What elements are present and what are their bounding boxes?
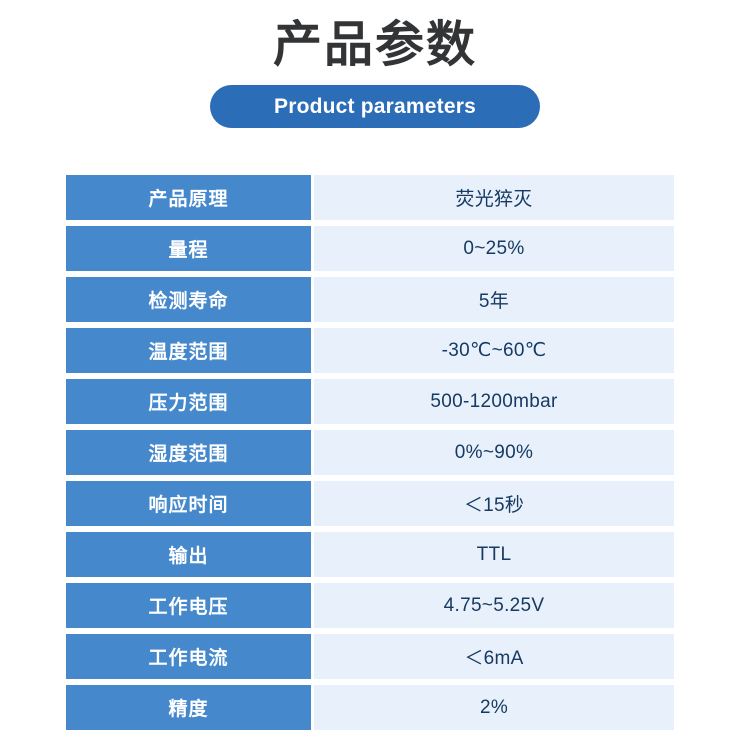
spec-label: 工作电压 [66, 583, 311, 628]
spec-row: 响应时间＜15秒 [66, 481, 674, 526]
spec-label: 检测寿命 [66, 277, 311, 322]
spec-row: 压力范围500-1200mbar [66, 379, 674, 424]
spec-label: 精度 [66, 685, 311, 730]
spec-value: -30℃~60℃ [314, 328, 674, 373]
subtitle-container: Product parameters [0, 85, 750, 128]
page-header: 产品参数 Product parameters [0, 0, 750, 128]
spec-row: 输出TTL [66, 532, 674, 577]
spec-value: 4.75~5.25V [314, 583, 674, 628]
spec-value: ＜15秒 [314, 481, 674, 526]
spec-label: 压力范围 [66, 379, 311, 424]
spec-row: 工作电压4.75~5.25V [66, 583, 674, 628]
spec-row: 产品原理荧光猝灭 [66, 175, 674, 220]
spec-value: 500-1200mbar [314, 379, 674, 424]
spec-label: 温度范围 [66, 328, 311, 373]
spec-value: TTL [314, 532, 674, 577]
spec-label: 输出 [66, 532, 311, 577]
subtitle-pill: Product parameters [210, 85, 540, 128]
spec-label: 产品原理 [66, 175, 311, 220]
spec-row: 精度2% [66, 685, 674, 730]
product-parameters-page: 产品参数 Product parameters 产品原理荧光猝灭量程0~25%检… [0, 0, 750, 752]
spec-value: 2% [314, 685, 674, 730]
spec-label: 工作电流 [66, 634, 311, 679]
spec-value: 荧光猝灭 [314, 175, 674, 220]
spec-label: 响应时间 [66, 481, 311, 526]
spec-value: ＜6mA [314, 634, 674, 679]
spec-row: 工作电流＜6mA [66, 634, 674, 679]
spec-row: 湿度范围0%~90% [66, 430, 674, 475]
spec-label: 湿度范围 [66, 430, 311, 475]
spec-row: 量程0~25% [66, 226, 674, 271]
spec-value: 5年 [314, 277, 674, 322]
spec-label: 量程 [66, 226, 311, 271]
spec-value: 0%~90% [314, 430, 674, 475]
spec-table: 产品原理荧光猝灭量程0~25%检测寿命5年温度范围-30℃~60℃压力范围500… [66, 175, 674, 730]
spec-row: 温度范围-30℃~60℃ [66, 328, 674, 373]
spec-value: 0~25% [314, 226, 674, 271]
spec-row: 检测寿命5年 [66, 277, 674, 322]
page-title: 产品参数 [0, 0, 750, 75]
